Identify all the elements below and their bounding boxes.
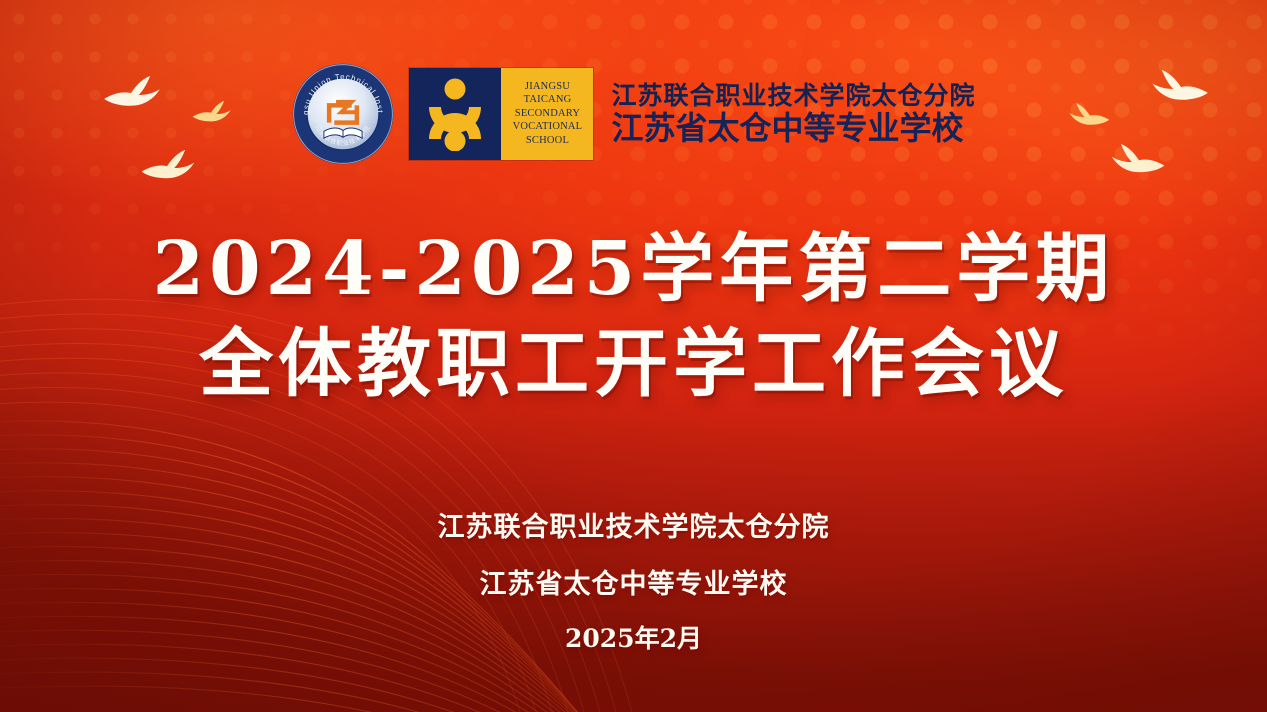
footer-block: 江苏联合职业技术学院太仓分院 江苏省太仓中等专业学校 2025年2月 <box>0 500 1267 666</box>
school-emblem-english-text: JIANGSU TAICANG SECONDARY VOCATIONAL SCH… <box>501 68 593 160</box>
page-title: 2024-2025学年第二学期 全体教职工开学工作会议 <box>0 222 1267 411</box>
footer-school-name: 江苏省太仓中等专业学校 <box>0 557 1267 614</box>
emblem-line-4: VOCATIONAL <box>513 121 583 133</box>
school-emblem-figure <box>409 68 501 160</box>
title-line-2: 全体教职工开学工作会议 <box>0 317 1267 412</box>
header-school-name: 江苏省太仓中等专业学校 <box>611 111 975 146</box>
title-slide: Jiangsu Union Technical Institute 江苏联合职业… <box>0 0 1267 712</box>
footer-date: 2025年2月 <box>0 613 1267 666</box>
emblem-line-2: TAICANG <box>524 94 572 106</box>
header-logo-bar: Jiangsu Union Technical Institute 江苏联合职业… <box>0 62 1267 166</box>
jiangsu-union-technical-institute-seal-icon: Jiangsu Union Technical Institute 江苏联合职业… <box>291 62 395 166</box>
emblem-line-3: SECONDARY <box>515 108 580 120</box>
stylized-person-icon <box>423 77 487 151</box>
footer-institute-name: 江苏联合职业技术学院太仓分院 <box>0 500 1267 557</box>
header-school-names: 江苏联合职业技术学院太仓分院 江苏省太仓中等专业学校 <box>611 82 975 146</box>
header-institute-name: 江苏联合职业技术学院太仓分院 <box>611 82 975 110</box>
emblem-line-5: SCHOOL <box>526 135 569 147</box>
title-line-1: 2024-2025学年第二学期 <box>0 222 1267 317</box>
emblem-line-1: JIANGSU <box>525 81 570 93</box>
taicang-vocational-school-emblem: JIANGSU TAICANG SECONDARY VOCATIONAL SCH… <box>409 68 593 160</box>
